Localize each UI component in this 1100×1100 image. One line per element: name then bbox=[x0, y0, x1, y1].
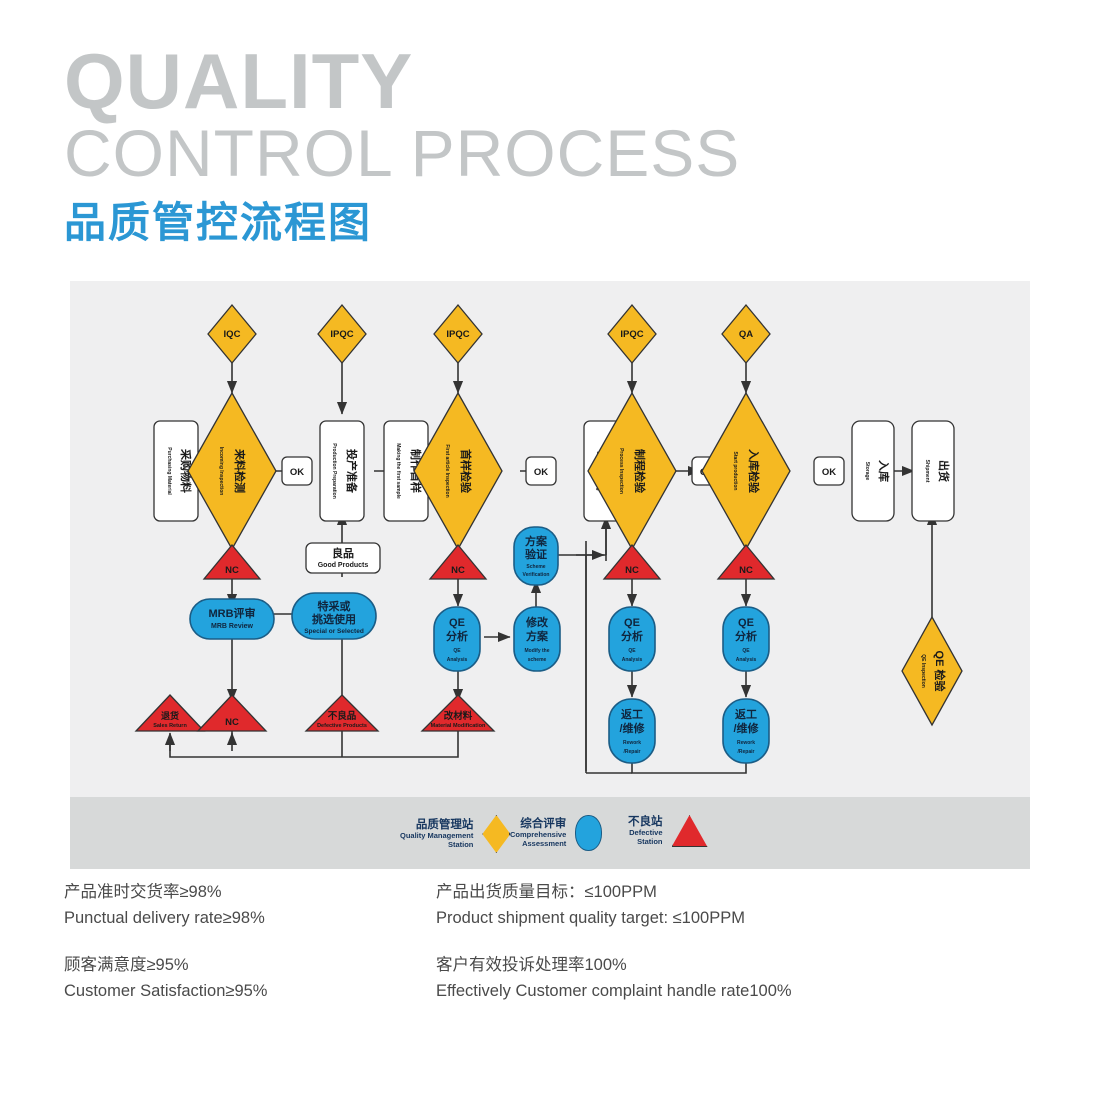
node-label-en-1: QE bbox=[628, 648, 636, 654]
node-label-en: Purchasing Material bbox=[166, 447, 172, 495]
metric-label-en: Punctual delivery rate≥98% bbox=[64, 906, 424, 932]
legend-text: 综合评审 Comprehensive Assessment bbox=[510, 818, 566, 848]
nc-nodes: NC NC NC NC bbox=[204, 545, 774, 579]
node-label-cn: 制程检验 bbox=[633, 449, 647, 494]
node-label-en-2: scheme bbox=[528, 657, 547, 663]
metric-item: 顾客满意度≥95% Customer Satisfaction≥95% bbox=[64, 953, 424, 1004]
node-rework-repair-1[interactable]: 返工 /维修 Rework /Repair bbox=[609, 699, 655, 763]
node-label-en: MRB Review bbox=[211, 623, 254, 630]
main-process-row: 采购物料 Purchasing Material 来料检测 Incoming I… bbox=[154, 393, 954, 549]
node-qe-analysis-2[interactable]: QE 分析 QE Analysis bbox=[609, 607, 655, 671]
inspector-label: IPQC bbox=[446, 329, 469, 340]
node-label-en: Good Products bbox=[318, 562, 369, 569]
node-label-cn: 投产准备 bbox=[345, 449, 359, 494]
legend-label-en-2: Station bbox=[628, 838, 663, 847]
ok-label: OK bbox=[290, 467, 304, 478]
node-label-cn-2: 验证 bbox=[525, 547, 547, 561]
decision-ok-4[interactable]: OK bbox=[814, 457, 844, 485]
page-title-sub: CONTROL PROCESS bbox=[64, 120, 740, 186]
triangle-icon bbox=[672, 815, 708, 847]
defect-nc-bottom[interactable]: NC bbox=[198, 695, 266, 731]
node-label-en: Making the first sample bbox=[395, 443, 401, 499]
node-label-en: First article Inspection bbox=[444, 444, 450, 497]
inspector-ipqc-3[interactable]: IPQC bbox=[608, 305, 656, 363]
node-label-cn-1: QE bbox=[624, 617, 640, 629]
inspector-label: IPQC bbox=[620, 329, 643, 340]
inspector-ipqc-1[interactable]: IPQC bbox=[318, 305, 366, 363]
process-production-preparation[interactable]: 投产准备 Production Preparation bbox=[320, 421, 364, 521]
legend-label-cn: 综合评审 bbox=[510, 818, 566, 831]
page-header: QUALITY CONTROL PROCESS 品质管控流程图 bbox=[64, 46, 740, 246]
node-label-cn-1: QE bbox=[738, 617, 754, 629]
defect-material-modification[interactable]: 改材料 Material Modification bbox=[422, 695, 494, 731]
inspector-label: IPQC bbox=[330, 329, 353, 340]
node-label-cn: 入库检验 bbox=[747, 449, 761, 494]
node-label-en: Production Preparation bbox=[331, 443, 337, 499]
node-label-cn-2: 分析 bbox=[735, 629, 757, 643]
decision-ok-2[interactable]: OK bbox=[526, 457, 556, 485]
process-first-article-inspection[interactable]: 首样检验 First article Inspection bbox=[414, 393, 502, 549]
connector-group bbox=[198, 363, 932, 701]
node-rework-repair-2[interactable]: 返工 /维修 Rework /Repair bbox=[723, 699, 769, 763]
node-special-or-selected[interactable]: 特采或 挑选使用 Special or Selected bbox=[292, 593, 376, 639]
metric-label-en: Product shipment quality target: ≤100PPM bbox=[436, 906, 956, 932]
nc-node-1[interactable]: NC bbox=[204, 545, 260, 579]
decision-ok-1[interactable]: OK bbox=[282, 457, 312, 485]
ok-label: OK bbox=[822, 467, 836, 478]
page-title-main: QUALITY bbox=[64, 46, 740, 118]
ok-label: OK bbox=[534, 467, 548, 478]
defect-nodes: 退货 Sales Return NC 不良品 Defective Product… bbox=[136, 695, 494, 731]
legend-comprehensive-assessment: 综合评审 Comprehensive Assessment bbox=[510, 815, 602, 851]
node-qe-analysis-1[interactable]: QE 分析 QE Analysis bbox=[434, 607, 480, 671]
node-label-en: Defective Products bbox=[317, 723, 367, 729]
node-label-en: Process Inspection bbox=[618, 448, 624, 494]
quality-control-process-page: QUALITY CONTROL PROCESS 品质管控流程图 bbox=[0, 0, 1100, 1100]
inspector-label: QA bbox=[739, 329, 753, 340]
node-label-en-1: QE bbox=[742, 648, 750, 654]
nc-node-2[interactable]: NC bbox=[430, 545, 486, 579]
inspector-label: IQC bbox=[224, 329, 241, 340]
nc-label: NC bbox=[625, 565, 639, 576]
inspector-ipqc-2[interactable]: IPQC bbox=[434, 305, 482, 363]
metric-item: 产品出货质量目标：≤100PPM Product shipment qualit… bbox=[436, 880, 956, 931]
nc-label: NC bbox=[451, 565, 465, 576]
process-storage[interactable]: 入库 Storage bbox=[852, 421, 894, 521]
legend-label-en-2: Assessment bbox=[510, 840, 566, 849]
inspector-iqc[interactable]: IQC bbox=[208, 305, 256, 363]
node-label-cn-1: 返工 bbox=[621, 707, 643, 721]
node-label-cn-1: 返工 bbox=[735, 707, 757, 721]
node-label-en: Sales Return bbox=[153, 723, 187, 729]
metric-label-en: Effectively Customer complaint handle ra… bbox=[436, 979, 956, 1005]
legend-band: 品质管理站 Quality Management Station 综合评审 Co… bbox=[70, 797, 1030, 869]
node-label-cn: 入库 bbox=[877, 460, 891, 482]
node-label-en-2: Verification bbox=[523, 572, 550, 578]
node-label-en-2: Analysis bbox=[447, 657, 468, 663]
nc-label: NC bbox=[225, 565, 239, 576]
metrics-column-left: 产品准时交货率≥98% Punctual delivery rate≥98% 顾… bbox=[64, 880, 424, 1026]
node-label-cn-2: /维修 bbox=[733, 721, 759, 735]
process-shipment[interactable]: 出货 Shipment bbox=[912, 421, 954, 521]
metric-item: 客户有效投诉处理率100% Effectively Customer compl… bbox=[436, 953, 956, 1004]
node-label-en: QE Inspection bbox=[920, 654, 926, 688]
legend-label-en-2: Station bbox=[400, 841, 473, 850]
flowchart-panel: IQC IPQC IPQC IPQC QA bbox=[70, 281, 1030, 869]
metric-label-cn: 产品准时交货率≥98% bbox=[64, 880, 424, 906]
node-label-cn-2: 分析 bbox=[621, 629, 643, 643]
node-qe-inspection[interactable]: QE 检验 QE Inspection bbox=[902, 617, 962, 725]
node-label-cn: 来料检测 bbox=[233, 448, 247, 493]
metric-label-cn: 产品出货质量目标：≤100PPM bbox=[436, 880, 956, 906]
nc-label: NC bbox=[739, 565, 753, 576]
node-label-en-2: /Repair bbox=[624, 749, 641, 755]
defect-sales-return[interactable]: 退货 Sales Return bbox=[136, 695, 204, 731]
node-label-cn: QE 检验 bbox=[933, 651, 947, 693]
node-label-en-1: QE bbox=[453, 648, 461, 654]
metrics-column-right: 产品出货质量目标：≤100PPM Product shipment qualit… bbox=[436, 880, 956, 1026]
ellipse-icon bbox=[575, 815, 602, 851]
metric-label-cn: 顾客满意度≥95% bbox=[64, 953, 424, 979]
node-label-en-2: Analysis bbox=[736, 657, 757, 663]
node-scheme-verification[interactable]: 方案 验证 Scheme Verification bbox=[514, 527, 558, 585]
node-label-cn-2: 挑选使用 bbox=[312, 612, 356, 626]
node-label-cn: 退货 bbox=[161, 710, 179, 721]
legend-text: 不良站 Defective Station bbox=[628, 816, 663, 846]
defect-defective-products[interactable]: 不良品 Defective Products bbox=[306, 695, 378, 731]
inspector-nodes: IQC IPQC IPQC IPQC QA bbox=[208, 305, 770, 363]
page-title-chinese: 品质管控流程图 bbox=[64, 200, 740, 246]
node-label-en-1: Rework bbox=[737, 740, 755, 746]
process-storage-inspection[interactable]: 入库检验 Start production bbox=[702, 393, 790, 549]
node-label-cn-2: 分析 bbox=[446, 629, 468, 643]
node-label-en: Shipment bbox=[924, 460, 930, 483]
node-label-cn: 良品 bbox=[332, 546, 354, 560]
node-label-en: Incoming Inspection bbox=[218, 447, 224, 496]
node-label-cn: 改材料 bbox=[444, 710, 473, 722]
node-label-cn: NC bbox=[225, 717, 239, 728]
node-label-cn: 不良品 bbox=[328, 710, 357, 722]
metric-label-en: Customer Satisfaction≥95% bbox=[64, 979, 424, 1005]
metric-label-cn: 客户有效投诉处理率100% bbox=[436, 953, 956, 979]
node-good-products[interactable]: 良品 Good Products bbox=[306, 543, 380, 573]
node-label-cn-1: 特采或 bbox=[318, 599, 351, 613]
node-label-en: Start production bbox=[732, 452, 738, 491]
node-label-cn-1: 方案 bbox=[525, 534, 548, 548]
diamond-icon bbox=[482, 815, 510, 853]
node-label-cn: 出货 bbox=[937, 460, 951, 482]
node-mrb-review[interactable]: MRB评审 MRB Review bbox=[190, 599, 274, 639]
legend-quality-management-station: 品质管理站 Quality Management Station bbox=[400, 815, 510, 853]
node-label-en-1: Scheme bbox=[526, 564, 545, 570]
node-qe-analysis-3[interactable]: QE 分析 QE Analysis bbox=[723, 607, 769, 671]
metric-item: 产品准时交货率≥98% Punctual delivery rate≥98% bbox=[64, 880, 424, 931]
node-label-cn-2: /维修 bbox=[619, 721, 645, 735]
node-label-en: Storage bbox=[864, 462, 870, 481]
inspector-qa[interactable]: QA bbox=[722, 305, 770, 363]
legend-text: 品质管理站 Quality Management Station bbox=[400, 819, 473, 849]
node-label-en-2: /Repair bbox=[738, 749, 755, 755]
node-label-en-2: Analysis bbox=[622, 657, 643, 663]
process-incoming-inspection[interactable]: 来料检测 Incoming Inspection bbox=[188, 393, 276, 549]
process-process-inspection[interactable]: 制程检验 Process Inspection bbox=[588, 393, 676, 549]
legend-label-cn: 不良站 bbox=[628, 816, 663, 829]
node-label-en: Material Modification bbox=[431, 723, 486, 729]
legend-label-cn: 品质管理站 bbox=[400, 819, 473, 832]
flowchart-svg: IQC IPQC IPQC IPQC QA bbox=[70, 281, 1030, 797]
legend-defective-station: 不良站 Defective Station bbox=[628, 815, 708, 847]
nc-node-3[interactable]: NC bbox=[604, 545, 660, 579]
nc-node-4[interactable]: NC bbox=[718, 545, 774, 579]
node-label-cn-1: QE bbox=[449, 617, 465, 629]
node-modify-scheme[interactable]: 修改 方案 Modify the scheme bbox=[514, 607, 560, 671]
node-label-en-1: Modify the bbox=[525, 648, 550, 654]
node-label-cn: 首样检验 bbox=[459, 449, 473, 494]
node-label-cn-2: 方案 bbox=[526, 629, 549, 643]
node-label-en: Special or Selected bbox=[304, 628, 364, 635]
legend-items: 品质管理站 Quality Management Station 综合评审 Co… bbox=[70, 797, 1030, 869]
node-label-cn-1: 修改 bbox=[525, 615, 549, 629]
node-label-en-1: Rework bbox=[623, 740, 641, 746]
node-label-cn: MRB评审 bbox=[208, 606, 255, 620]
